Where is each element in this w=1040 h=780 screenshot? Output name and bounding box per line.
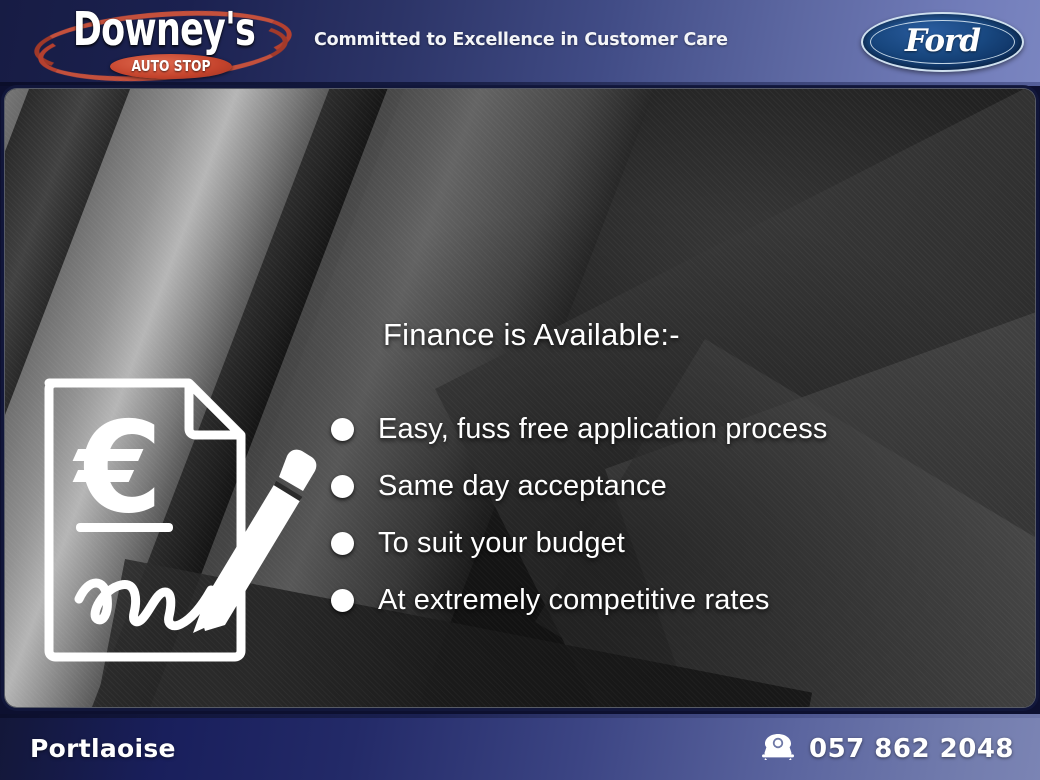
logo-brand-name: Downey's <box>61 2 268 56</box>
list-item-label: Same day acceptance <box>378 470 667 503</box>
page-footer: Portlaoise 057 862 2048 <box>0 714 1040 780</box>
list-item-label: Easy, fuss free application process <box>378 413 827 446</box>
bullet-dot-icon <box>331 589 354 612</box>
bullet-dot-icon <box>331 532 354 555</box>
list-item: Easy, fuss free application process <box>331 401 1031 458</box>
header-tagline: Committed to Excellence in Customer Care <box>314 30 728 50</box>
euro-document-signature-icon: € <box>39 371 319 663</box>
logo-sub-name: AUTO STOP <box>121 54 221 79</box>
bullet-dot-icon <box>331 418 354 441</box>
advert-page: Downey's AUTO STOP Committed to Excellen… <box>0 0 1040 780</box>
svg-text:€: € <box>72 394 163 541</box>
list-item-label: To suit your budget <box>378 527 625 560</box>
list-item-label: At extremely competitive rates <box>378 584 769 617</box>
location-label: Portlaoise <box>30 734 176 763</box>
dealer-logo[interactable]: Downey's AUTO STOP <box>28 4 300 82</box>
telephone-icon <box>761 732 795 765</box>
contact-phone[interactable]: 057 862 2048 <box>761 732 1014 765</box>
list-item: At extremely competitive rates <box>331 572 1031 629</box>
main-panel: € Finance is Available:- Easy, fuss free… <box>4 88 1036 708</box>
list-item: Same day acceptance <box>331 458 1031 515</box>
page-header: Downey's AUTO STOP Committed to Excellen… <box>0 0 1040 86</box>
phone-number: 057 862 2048 <box>809 734 1014 764</box>
ford-wordmark: Ford <box>861 12 1024 72</box>
list-item: To suit your budget <box>331 515 1031 572</box>
logo-sub-pill: AUTO STOP <box>110 54 232 79</box>
page-title: Finance is Available:- <box>383 317 680 353</box>
ford-logo[interactable]: Ford <box>861 12 1024 72</box>
benefits-list: Easy, fuss free application process Same… <box>331 401 1031 629</box>
bullet-dot-icon <box>331 475 354 498</box>
